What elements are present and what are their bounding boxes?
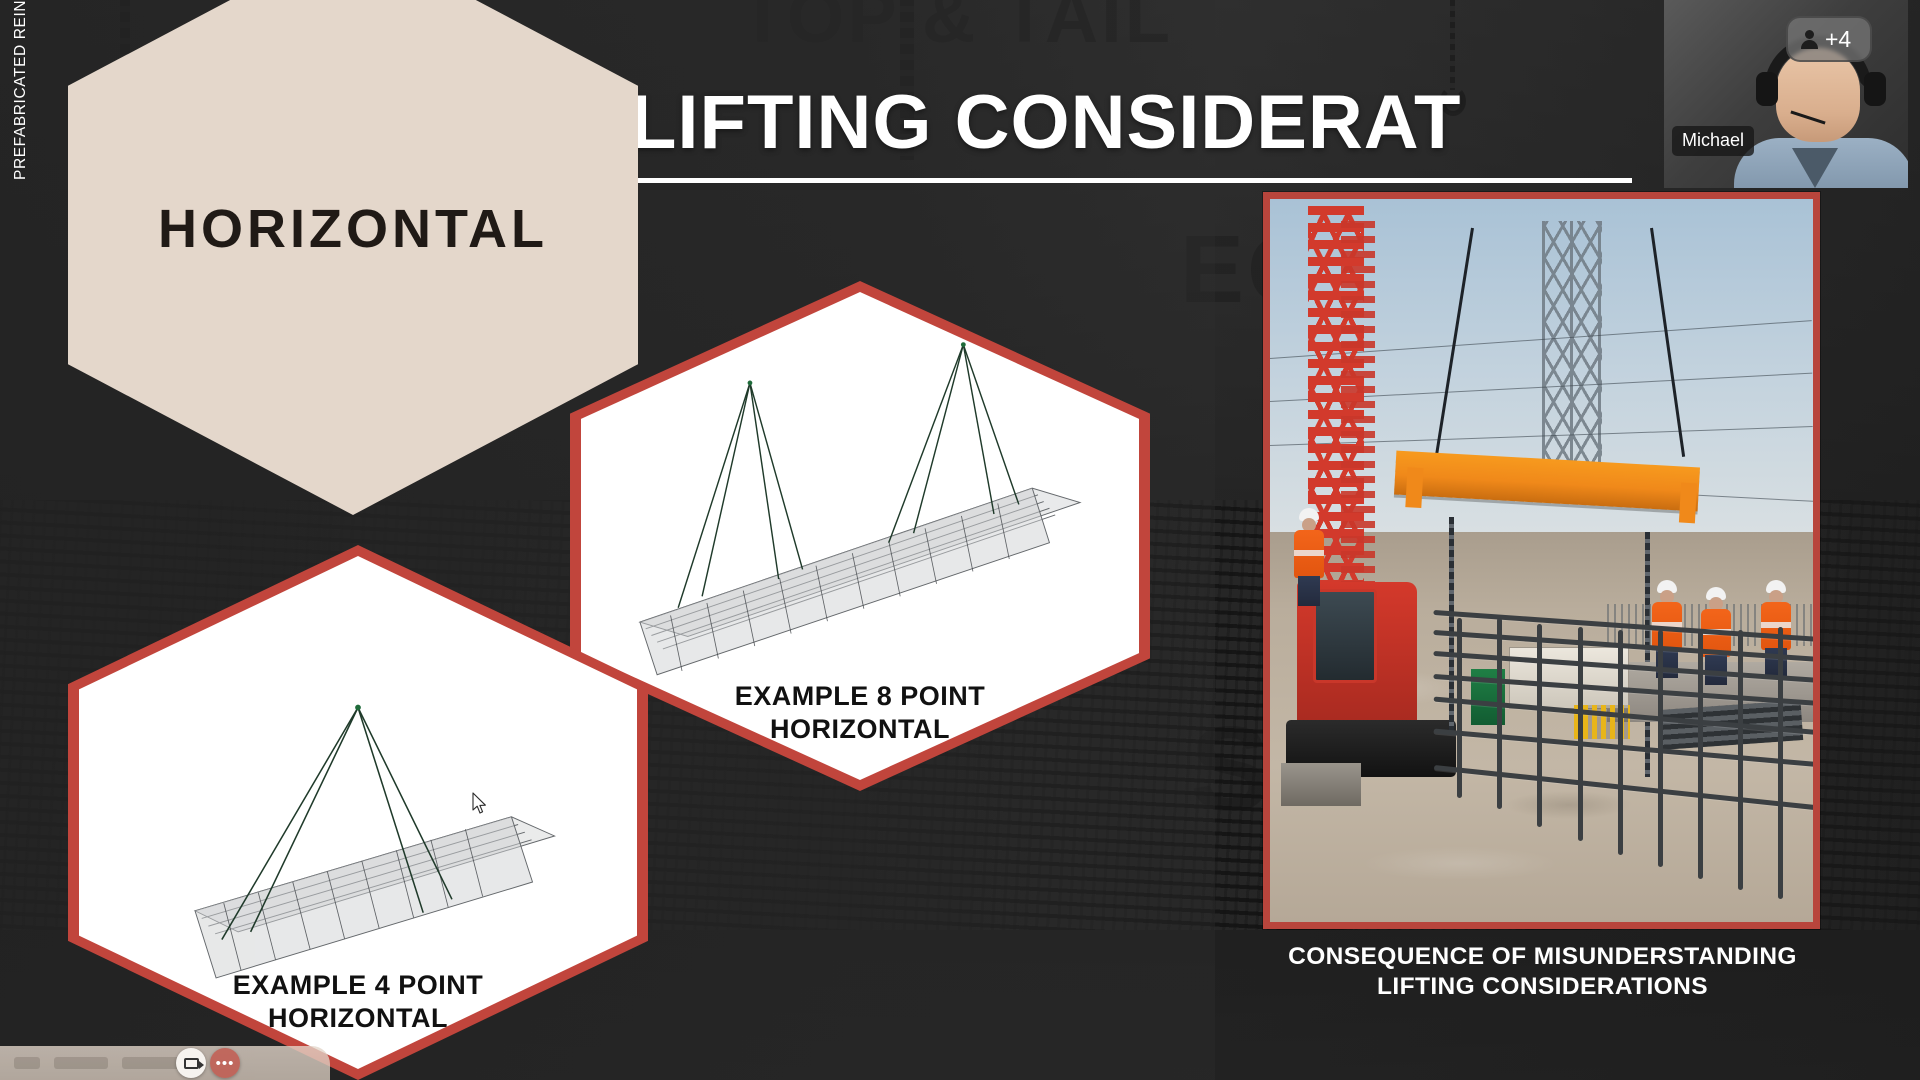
page-title: LIFTING CONSIDERAT <box>630 85 1461 161</box>
photo-caption-line-2: LIFTING CONSIDERATIONS <box>1245 972 1840 1002</box>
vertical-title-container: PREFABRICATED REINFORCEMENT CAGES – COMM… <box>0 0 46 1080</box>
vertical-running-title: PREFABRICATED REINFORCEMENT CAGES – COMM… <box>12 0 30 180</box>
more-icon: ••• <box>216 1056 235 1071</box>
caption-line-2: HORIZONTAL <box>233 1002 484 1035</box>
photo-beam-lug <box>1679 483 1697 524</box>
site-photo-frame <box>1263 192 1820 929</box>
site-photo <box>1270 199 1813 922</box>
photo-worker <box>1292 508 1326 604</box>
presentation-stage: TOP & TAIL EQU S PREFABRICATED REINFORCE… <box>0 0 1920 1080</box>
participants-badge[interactable]: +4 <box>1786 16 1872 62</box>
participant-name-label: Michael <box>1672 126 1754 156</box>
photo-counterweight <box>1281 763 1361 806</box>
meeting-toolbar[interactable] <box>0 1046 330 1080</box>
photo-caption: CONSEQUENCE OF MISUNDERSTANDING LIFTING … <box>1245 942 1840 1002</box>
photo-pylon-icon <box>1542 221 1602 481</box>
photo-caption-line-1: CONSEQUENCE OF MISUNDERSTANDING <box>1245 942 1840 972</box>
caption-line-2: HORIZONTAL <box>735 713 986 746</box>
caption-line-1: EXAMPLE 4 POINT <box>233 969 484 1002</box>
more-options-button[interactable]: ••• <box>210 1048 240 1078</box>
photo-beam-lug <box>1405 467 1423 508</box>
hexagon-example-4-point-caption: EXAMPLE 4 POINT HORIZONTAL <box>233 969 484 1035</box>
hexagon-example-8-point-caption: EXAMPLE 8 POINT HORIZONTAL <box>735 680 986 746</box>
photo-crane-lattice-icon <box>1341 221 1375 597</box>
camera-icon <box>184 1058 199 1069</box>
title-underline <box>632 178 1632 183</box>
participants-count-label: +4 <box>1825 28 1851 51</box>
headset-earcup-icon <box>1756 72 1778 106</box>
headset-earcup-icon <box>1864 72 1886 106</box>
toolbar-ghost-item <box>14 1057 40 1069</box>
toolbar-ghost-item <box>54 1057 108 1069</box>
caption-line-1: EXAMPLE 8 POINT <box>735 680 986 713</box>
photo-rebar-cage <box>1433 618 1813 907</box>
camera-button[interactable] <box>176 1048 206 1078</box>
person-icon <box>1800 30 1818 48</box>
hexagon-horizontal-label: HORIZONTAL <box>158 198 548 260</box>
